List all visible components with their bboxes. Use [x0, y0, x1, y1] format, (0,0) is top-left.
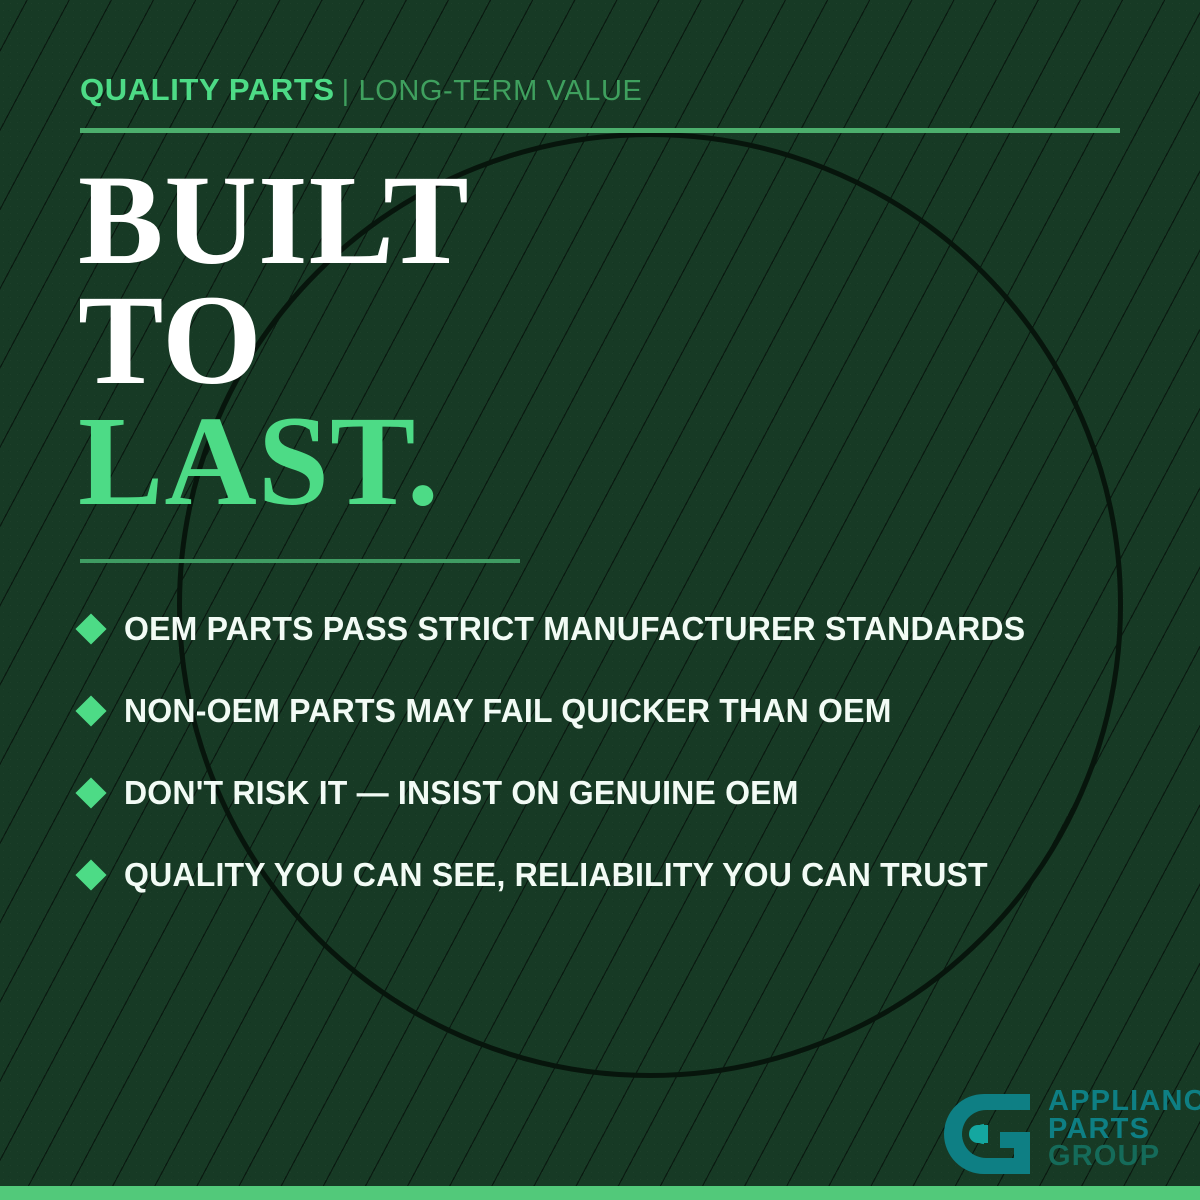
- list-item: DON'T RISK IT — INSIST ON GENUINE OEM: [80, 752, 1160, 834]
- page-title: BUILT TO LAST.: [78, 160, 470, 521]
- diamond-bullet-icon: [75, 777, 106, 808]
- list-item: OEM PARTS PASS STRICT MANUFACTURER STAND…: [80, 588, 1160, 670]
- headline-line-2: TO: [78, 280, 470, 400]
- headline-underline-rule: [80, 559, 520, 563]
- brand-logo: APPLIANCE PARTS GROUP: [944, 1088, 1200, 1180]
- diamond-bullet-icon: [75, 695, 106, 726]
- g-monogram-icon: [944, 1088, 1036, 1180]
- list-item-label: NON-OEM PARTS MAY FAIL QUICKER THAN OEM: [124, 692, 892, 730]
- benefits-list: OEM PARTS PASS STRICT MANUFACTURER STAND…: [80, 588, 1160, 916]
- eyebrow-primary-text: QUALITY PARTS: [80, 72, 335, 107]
- list-item-label: OEM PARTS PASS STRICT MANUFACTURER STAND…: [124, 610, 1025, 648]
- eyebrow-secondary-text: | LONG-TERM VALUE: [342, 75, 643, 107]
- headline-line-1: BUILT: [78, 160, 470, 280]
- brand-word-line-1: APPLIANCE: [1048, 1088, 1200, 1116]
- diamond-bullet-icon: [75, 613, 106, 644]
- list-item-label: QUALITY YOU CAN SEE, RELIABILITY YOU CAN…: [124, 856, 988, 894]
- brand-word-line-2: PARTS: [1048, 1116, 1200, 1144]
- diamond-bullet-icon: [75, 859, 106, 890]
- bottom-accent-band: [0, 1186, 1200, 1200]
- list-item: NON-OEM PARTS MAY FAIL QUICKER THAN OEM: [80, 670, 1160, 752]
- headline-line-3: LAST.: [78, 401, 470, 521]
- list-item: QUALITY YOU CAN SEE, RELIABILITY YOU CAN…: [80, 834, 1160, 916]
- poster-canvas: QUALITY PARTS| LONG-TERM VALUE BUILT TO …: [0, 0, 1200, 1200]
- top-divider-rule: [80, 128, 1120, 133]
- brand-word-line-3: GROUP: [1048, 1143, 1200, 1171]
- eyebrow-heading: QUALITY PARTS| LONG-TERM VALUE: [80, 74, 642, 106]
- brand-logo-wordmark: APPLIANCE PARTS GROUP: [1048, 1088, 1200, 1171]
- list-item-label: DON'T RISK IT — INSIST ON GENUINE OEM: [124, 774, 799, 812]
